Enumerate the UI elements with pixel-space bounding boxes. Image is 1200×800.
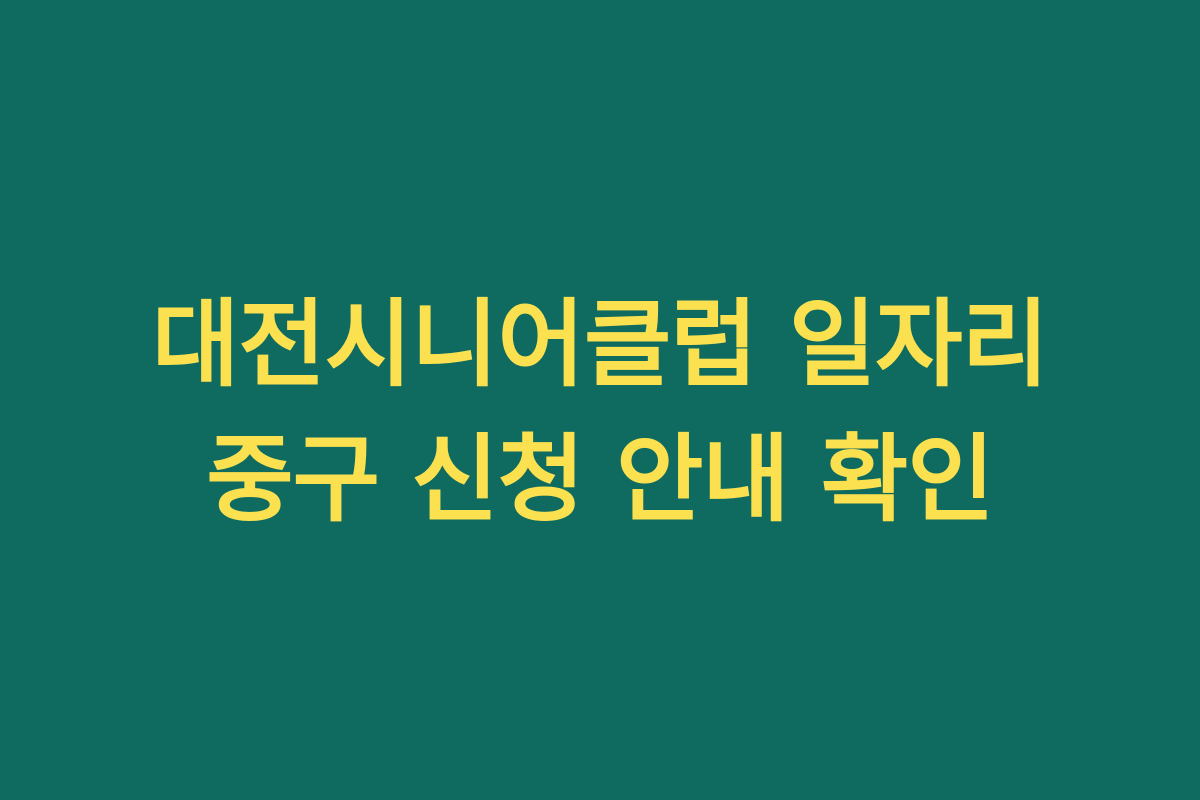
headline-line-2: 중구 신청 안내 확인 [0, 413, 1200, 548]
headline-line-1: 대전시니어클럽 일자리 [0, 278, 1200, 413]
banner-canvas: 대전시니어클럽 일자리 중구 신청 안내 확인 [0, 0, 1200, 800]
headline-block: 대전시니어클럽 일자리 중구 신청 안내 확인 [0, 278, 1200, 548]
